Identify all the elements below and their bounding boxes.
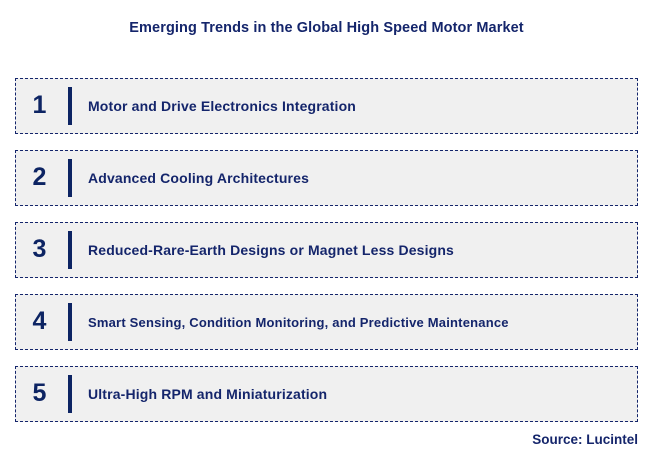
trend-number: 4	[16, 309, 63, 336]
trend-label: Advanced Cooling Architectures	[72, 170, 637, 186]
source-attribution: Source: Lucintel	[532, 432, 638, 447]
trend-label: Smart Sensing, Condition Monitoring, and…	[72, 315, 637, 330]
trend-list: 1 Motor and Drive Electronics Integratio…	[15, 78, 638, 438]
trend-label: Ultra-High RPM and Miniaturization	[72, 386, 637, 402]
trend-number: 1	[16, 93, 63, 120]
trend-row[interactable]: 2 Advanced Cooling Architectures	[15, 150, 638, 206]
infographic-page: Emerging Trends in the Global High Speed…	[0, 0, 653, 464]
trend-label: Motor and Drive Electronics Integration	[72, 98, 637, 114]
trend-row[interactable]: 1 Motor and Drive Electronics Integratio…	[15, 78, 638, 134]
trend-row[interactable]: 5 Ultra-High RPM and Miniaturization	[15, 366, 638, 422]
trend-number: 3	[16, 237, 63, 264]
page-title: Emerging Trends in the Global High Speed…	[0, 20, 653, 36]
trend-label: Reduced-Rare-Earth Designs or Magnet Les…	[72, 242, 637, 258]
trend-number: 5	[16, 381, 63, 408]
trend-row[interactable]: 4 Smart Sensing, Condition Monitoring, a…	[15, 294, 638, 350]
trend-number: 2	[16, 165, 63, 192]
trend-row[interactable]: 3 Reduced-Rare-Earth Designs or Magnet L…	[15, 222, 638, 278]
